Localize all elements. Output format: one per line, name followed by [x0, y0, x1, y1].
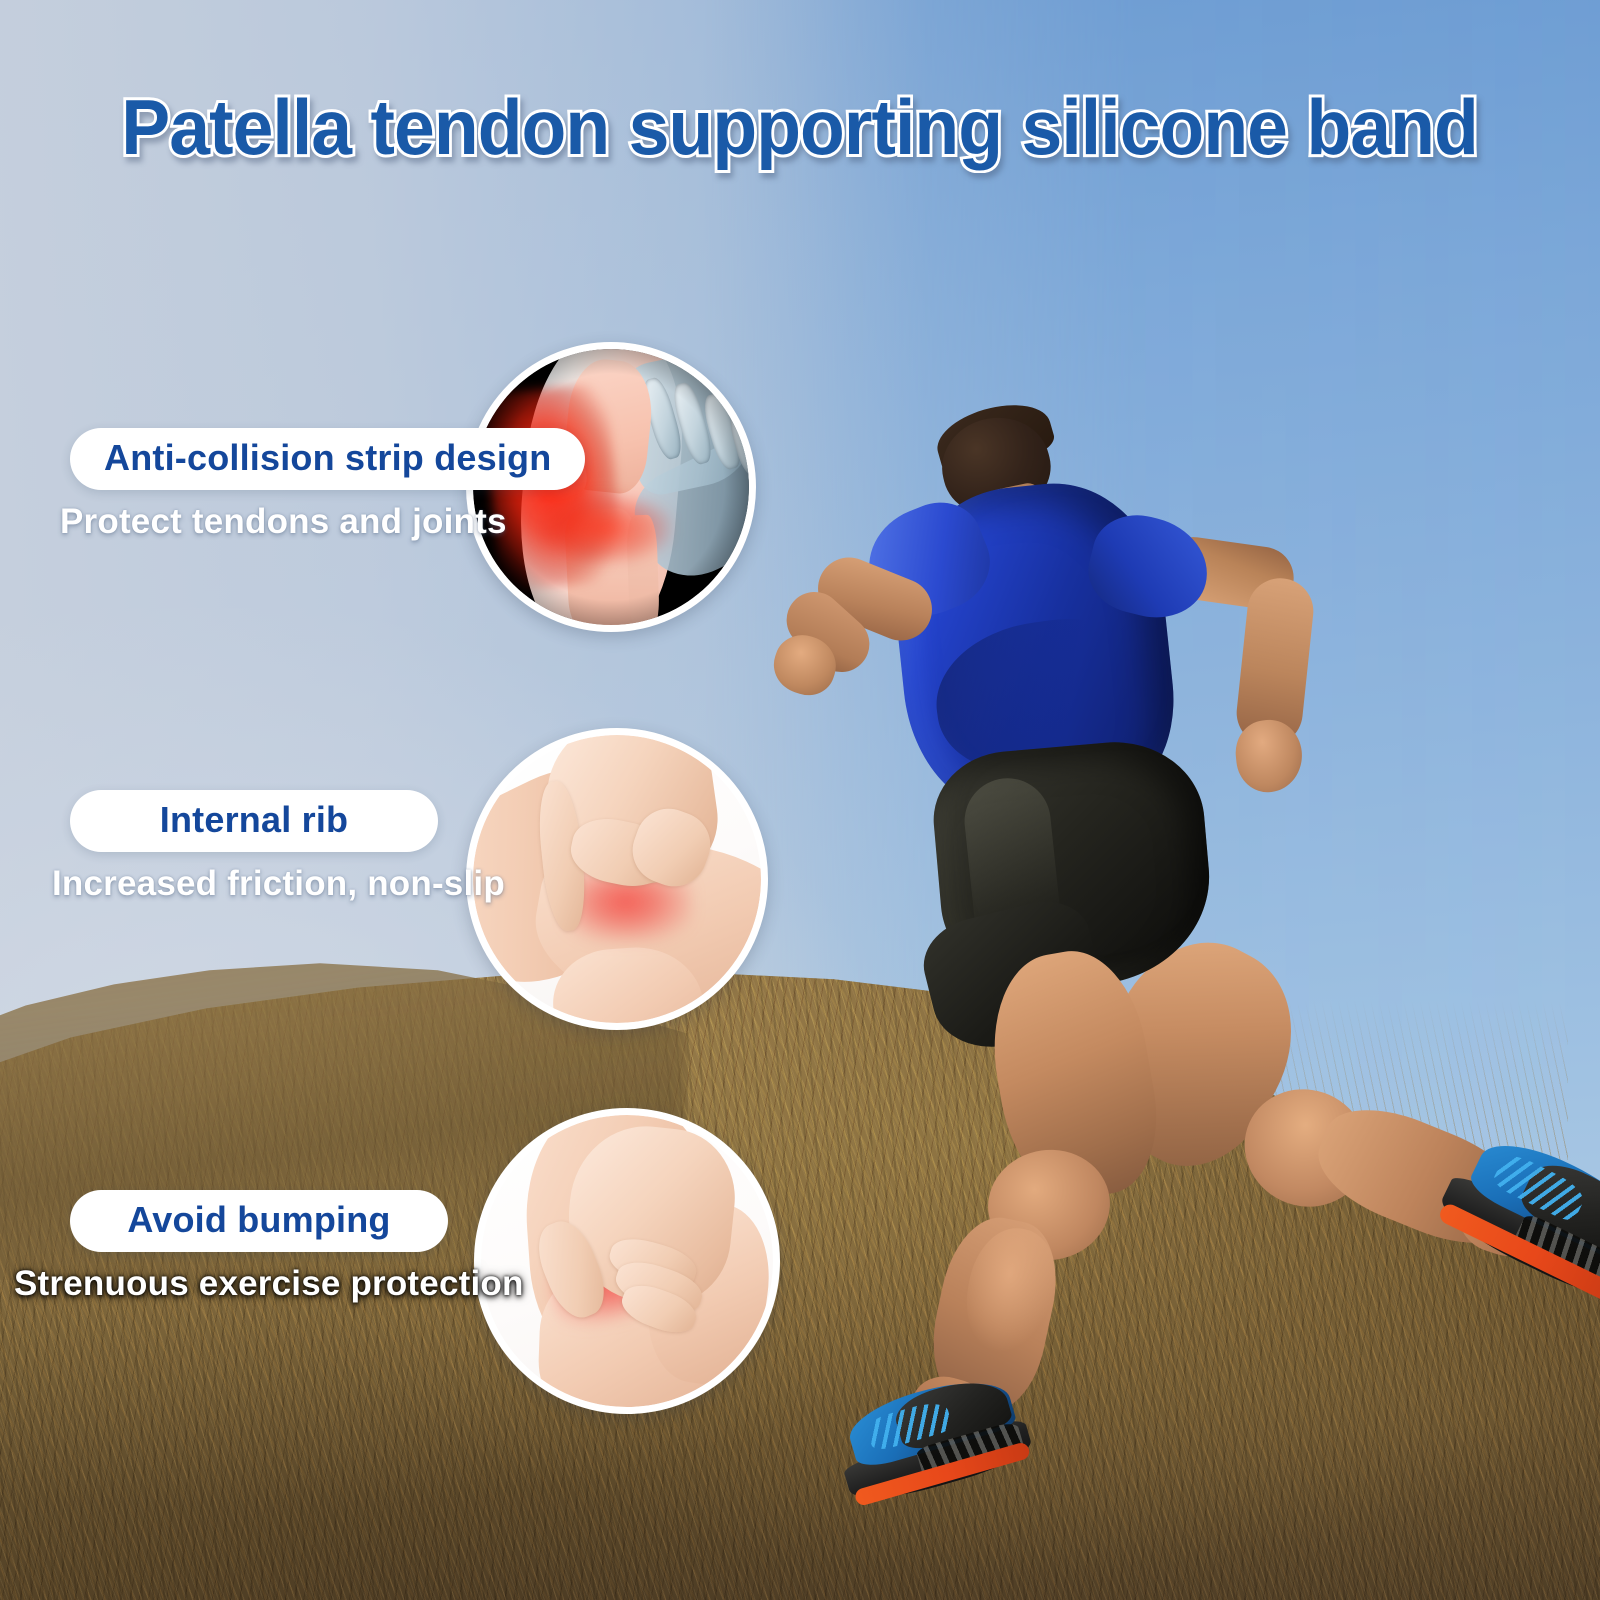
feature-subtitle: Protect tendons and joints: [60, 504, 585, 539]
feature-block-avoid-bumping: Avoid bumping Strenuous exercise protect…: [70, 1190, 524, 1301]
banner-title: Patella tendon supporting silicone band: [122, 88, 1479, 166]
runner-figure: [760, 390, 1580, 1390]
circle-image-inner: [473, 735, 761, 1023]
product-feature-banner: Patella tendon supporting silicone band: [0, 0, 1600, 1600]
feature-label-text: Internal rib: [104, 802, 404, 838]
feature-label-pill[interactable]: Avoid bumping: [70, 1190, 448, 1252]
banner-title-wrap: Patella tendon supporting silicone band: [0, 88, 1600, 166]
feature-label-pill[interactable]: Internal rib: [70, 790, 438, 852]
feature-subtitle: Strenuous exercise protection: [14, 1266, 524, 1301]
feature-label-pill[interactable]: Anti-collision strip design: [70, 428, 585, 490]
feature-label-text: Anti-collision strip design: [104, 440, 551, 476]
circle-image-inner: [481, 1115, 773, 1407]
feature-block-internal-rib: Internal rib Increased friction, non-sli…: [70, 790, 505, 901]
feature-image-hand-gripping-calf-pain: [466, 728, 768, 1030]
feature-subtitle: Increased friction, non-slip: [52, 866, 505, 901]
feature-label-text: Avoid bumping: [104, 1202, 414, 1238]
feature-block-anti-collision-strip-design: Anti-collision strip design Protect tend…: [70, 428, 585, 539]
